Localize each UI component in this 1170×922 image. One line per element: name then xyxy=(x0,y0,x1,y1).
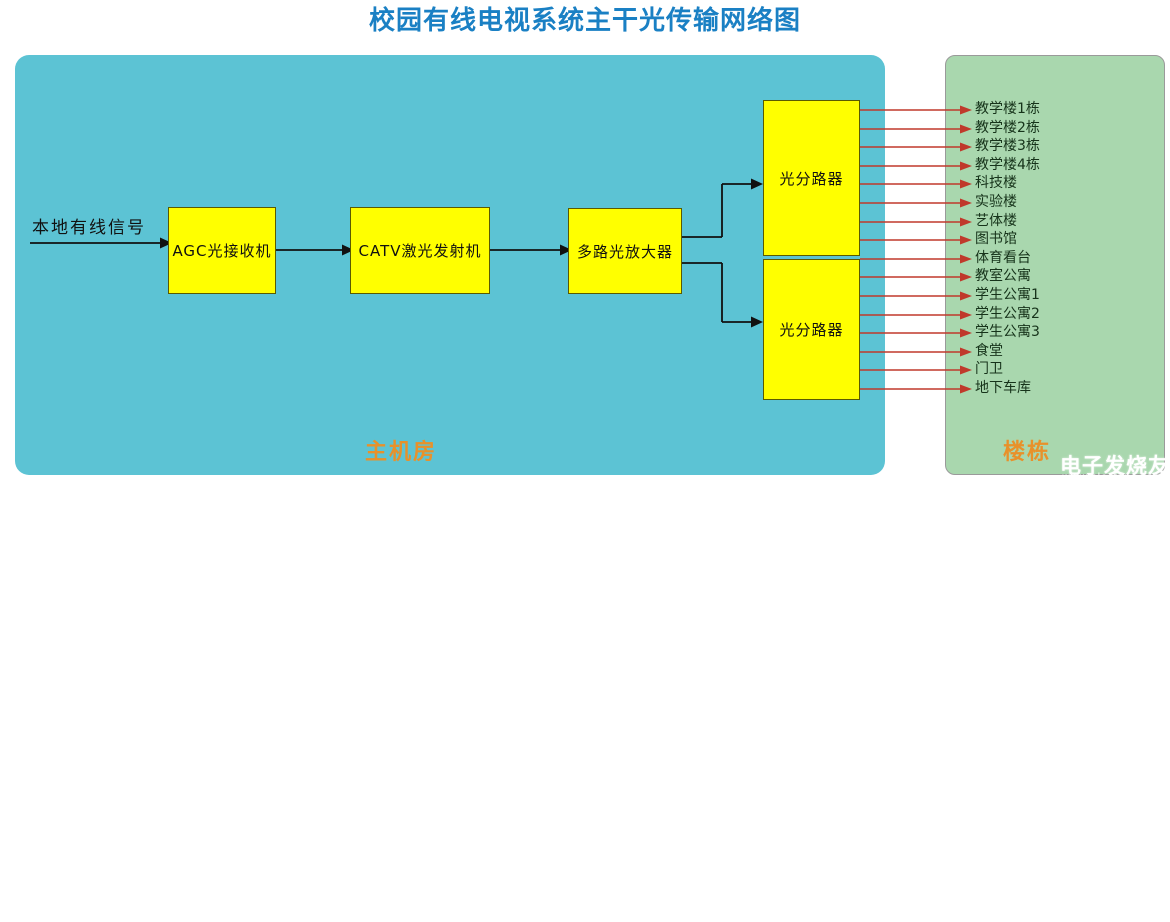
device-amplifier-label: 多路光放大器 xyxy=(577,241,673,262)
page-title: 校园有线电视系统主干光传输网络图 xyxy=(0,4,1170,38)
device-splitter1-label: 光分路器 xyxy=(779,168,843,189)
main-room-caption: 主机房 xyxy=(365,434,437,466)
device-splitter2-label: 光分路器 xyxy=(779,319,843,340)
destination-label: 门卫 xyxy=(975,362,1003,376)
destination-label: 学生公寓3 xyxy=(975,325,1040,339)
device-optical-splitter-1[interactable]: 光分路器 xyxy=(763,100,860,256)
device-agc-label: AGC光接收机 xyxy=(172,240,271,261)
destination-label: 教学楼4栋 xyxy=(975,158,1040,172)
destination-label: 实验楼 xyxy=(975,195,1017,209)
destination-label: 教学楼2栋 xyxy=(975,121,1040,135)
destination-label: 教学楼1栋 xyxy=(975,102,1040,116)
device-agc-optical-receiver[interactable]: AGC光接收机 xyxy=(168,207,276,294)
destination-label: 艺体楼 xyxy=(975,214,1017,228)
destination-label: 学生公寓2 xyxy=(975,307,1040,321)
destination-label: 学生公寓1 xyxy=(975,288,1040,302)
watermark-url: www.elecfans.com xyxy=(1062,472,1163,483)
diagram-canvas: 校园有线电视系统主干光传输网络图 xyxy=(0,0,1170,489)
destination-label: 食堂 xyxy=(975,344,1003,358)
device-catv-label: CATV激光发射机 xyxy=(359,240,482,261)
device-optical-splitter-2[interactable]: 光分路器 xyxy=(763,259,860,400)
destination-label: 地下车库 xyxy=(975,381,1031,395)
destination-label: 图书馆 xyxy=(975,232,1017,246)
destination-label: 体育看台 xyxy=(975,251,1031,265)
source-signal-label: 本地有线信号 xyxy=(32,213,146,238)
device-multichannel-amplifier[interactable]: 多路光放大器 xyxy=(568,208,682,294)
destination-label: 教学楼3栋 xyxy=(975,139,1040,153)
device-catv-laser-transmitter[interactable]: CATV激光发射机 xyxy=(350,207,490,294)
destination-label: 教室公寓 xyxy=(975,269,1031,283)
destination-label: 科技楼 xyxy=(975,176,1017,190)
